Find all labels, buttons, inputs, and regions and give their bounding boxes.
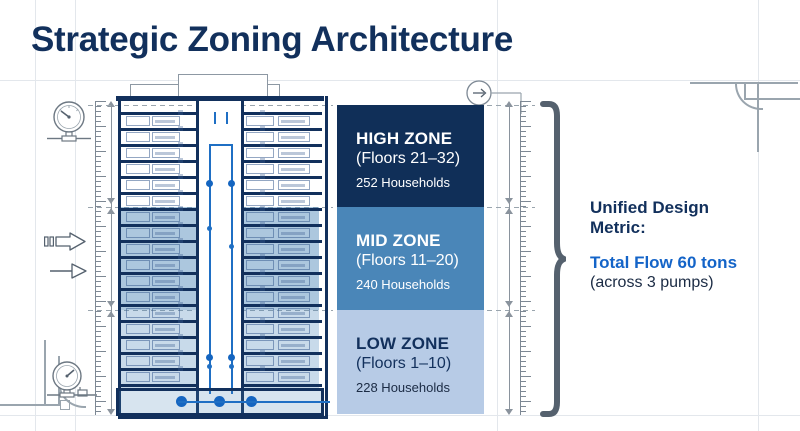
curly-brace-icon	[540, 100, 566, 418]
right-measuring-ruler	[520, 101, 534, 415]
zone-floors: (Floors 1–10)	[356, 355, 484, 373]
zone-panel-high[interactable]: HIGH ZONE (Floors 21–32) 252 Households	[337, 105, 484, 207]
building-section-diagram	[118, 96, 322, 416]
left-measuring-ruler	[95, 101, 109, 415]
zone-title: MID ZONE	[356, 231, 484, 251]
line-flow-arrow-icon	[50, 262, 88, 285]
zone-floors: (Floors 21–32)	[356, 150, 484, 168]
metric-label-line2: Metric:	[590, 218, 790, 238]
block-flow-arrow-icon	[44, 232, 88, 257]
zone-panel-mid[interactable]: MID ZONE (Floors 11–20) 240 Households	[337, 207, 484, 310]
metric-subtext: (across 3 pumps)	[590, 274, 790, 292]
pressure-gauge-icon	[47, 100, 91, 151]
zone-households: 252 Households	[356, 175, 484, 190]
metric-label: Unified Design Metric:	[590, 198, 790, 238]
metric-value: Total Flow 60 tons	[590, 253, 790, 273]
slide-canvas: Strategic Zoning Architecture	[0, 0, 800, 431]
zone-floors: (Floors 11–20)	[356, 252, 484, 270]
zone-households: 228 Households	[356, 380, 484, 395]
zone-title: LOW ZONE	[356, 334, 484, 354]
zone-households: 240 Households	[356, 277, 484, 292]
zone-panel-low[interactable]: LOW ZONE (Floors 1–10) 228 Households	[337, 310, 484, 414]
roof-tank	[178, 74, 268, 97]
pressure-gauge-icon	[47, 360, 97, 410]
metric-label-line1: Unified Design	[590, 198, 790, 218]
page-title: Strategic Zoning Architecture	[31, 20, 513, 60]
zone-title: HIGH ZONE	[356, 129, 484, 149]
metric-block: Unified Design Metric: Total Flow 60 ton…	[590, 198, 790, 292]
